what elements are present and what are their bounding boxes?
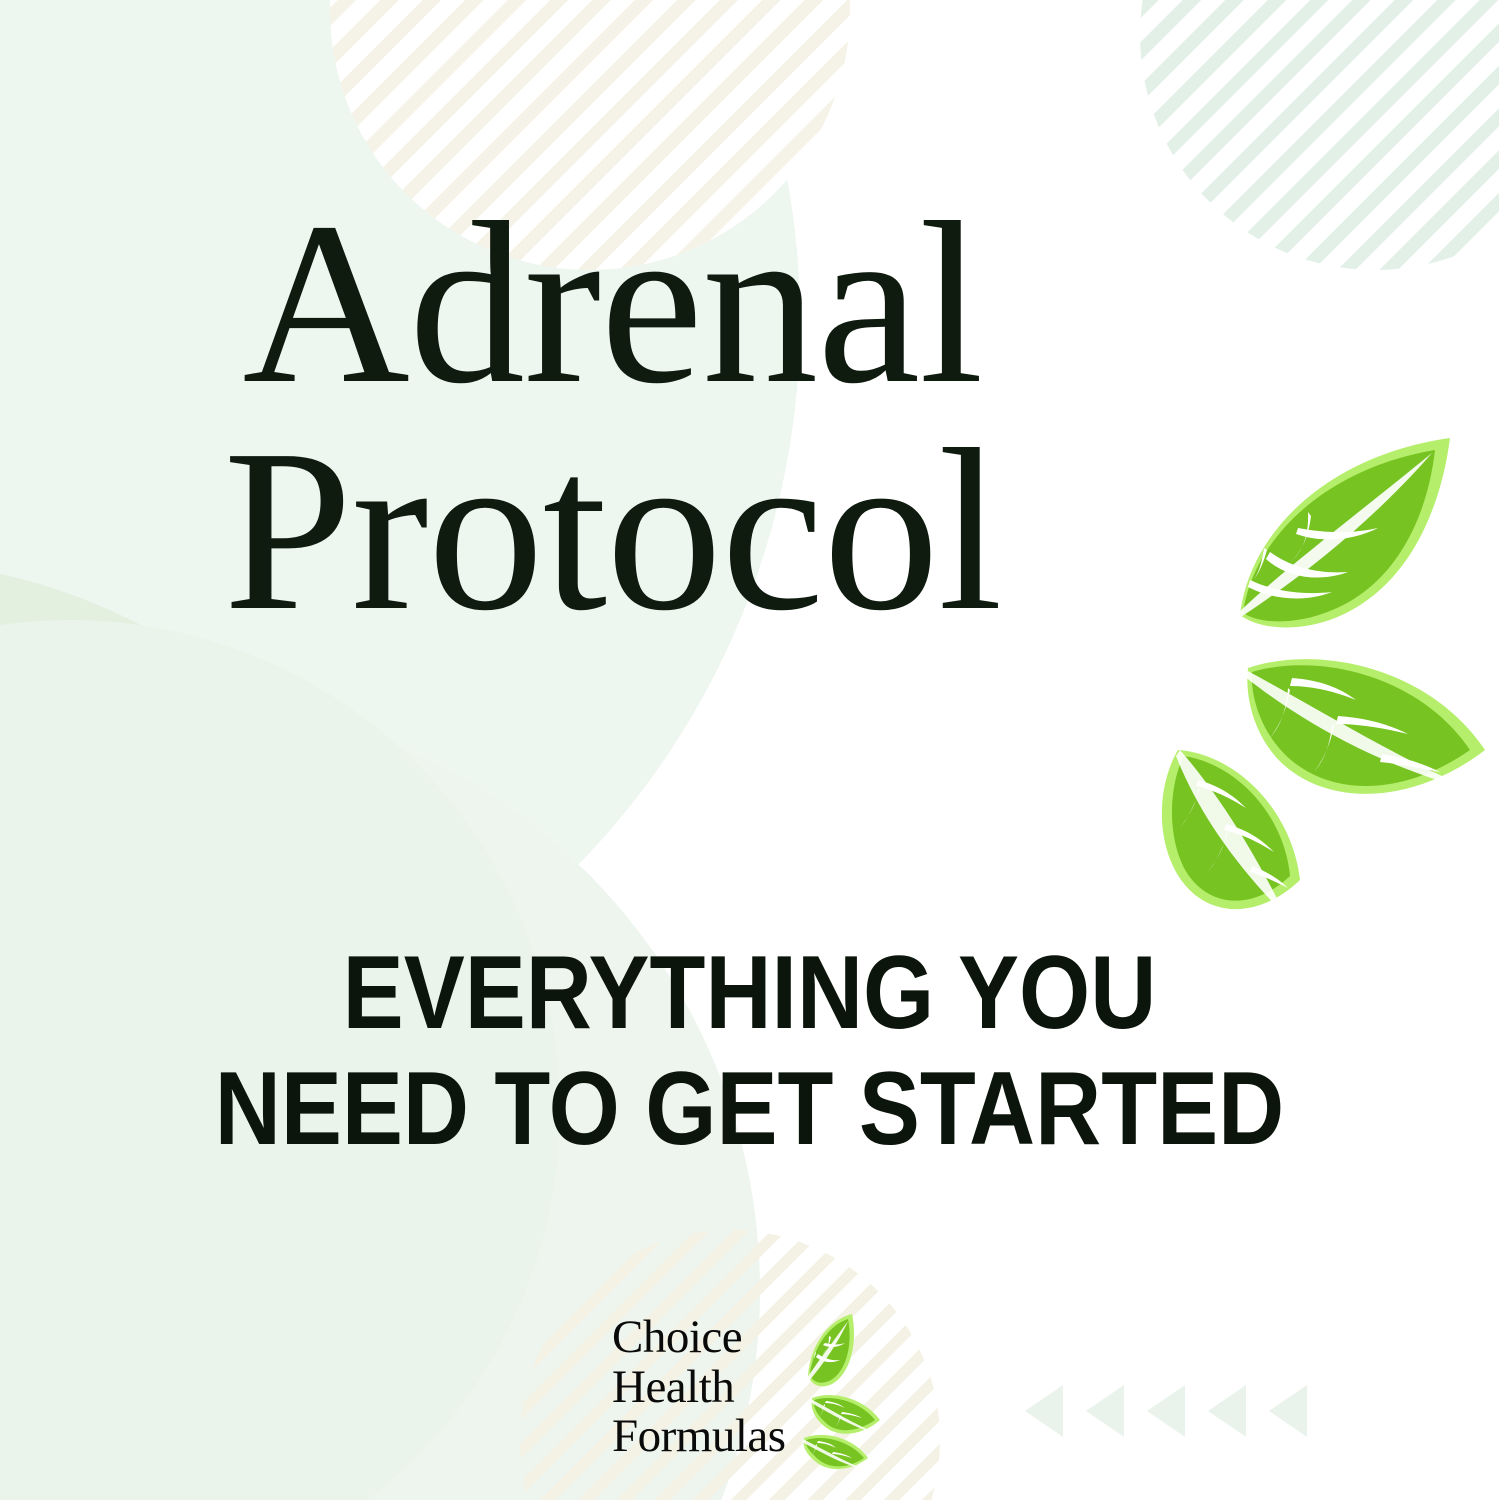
triangle-left-icon (1147, 1385, 1185, 1437)
brand-logo-leaf-icon (788, 1312, 908, 1472)
logo-leaf-top-icon (807, 1314, 854, 1386)
brand-logo-line-2: Health (612, 1363, 786, 1413)
triangle-left-icon (1269, 1385, 1307, 1437)
leaf-top-icon (1235, 438, 1450, 627)
triangle-left-icon (1086, 1385, 1124, 1437)
triangle-left-icon (1208, 1385, 1246, 1437)
logo-leaf-lower-icon (802, 1434, 868, 1469)
brand-logo-line-3: Formulas (612, 1412, 786, 1462)
arrow-decoration-row (1025, 1385, 1307, 1437)
leaf-cluster-icon (1140, 420, 1499, 940)
page-title-line-1: Adrenal (0, 190, 1225, 417)
leaf-middle-icon (1244, 659, 1485, 794)
brand-logo-wordmark: Choice Health Formulas (612, 1313, 786, 1462)
page-subtitle: EVERYTHING YOU NEED TO GET STARTED (0, 935, 1499, 1168)
page-subtitle-line-1: EVERYTHING YOU (90, 935, 1409, 1051)
brand-logo-line-1: Choice (612, 1313, 786, 1363)
poster-canvas: Adrenal Protocol (0, 0, 1499, 1500)
logo-leaf-middle-icon (810, 1394, 880, 1433)
triangle-left-icon (1025, 1385, 1063, 1437)
leaf-lower-icon (1162, 750, 1300, 916)
brand-logo: Choice Health Formulas (612, 1295, 912, 1480)
page-title-line-2: Protocol (0, 417, 1225, 644)
page-title: Adrenal Protocol (0, 190, 1225, 645)
page-subtitle-line-2: NEED TO GET STARTED (90, 1051, 1409, 1167)
